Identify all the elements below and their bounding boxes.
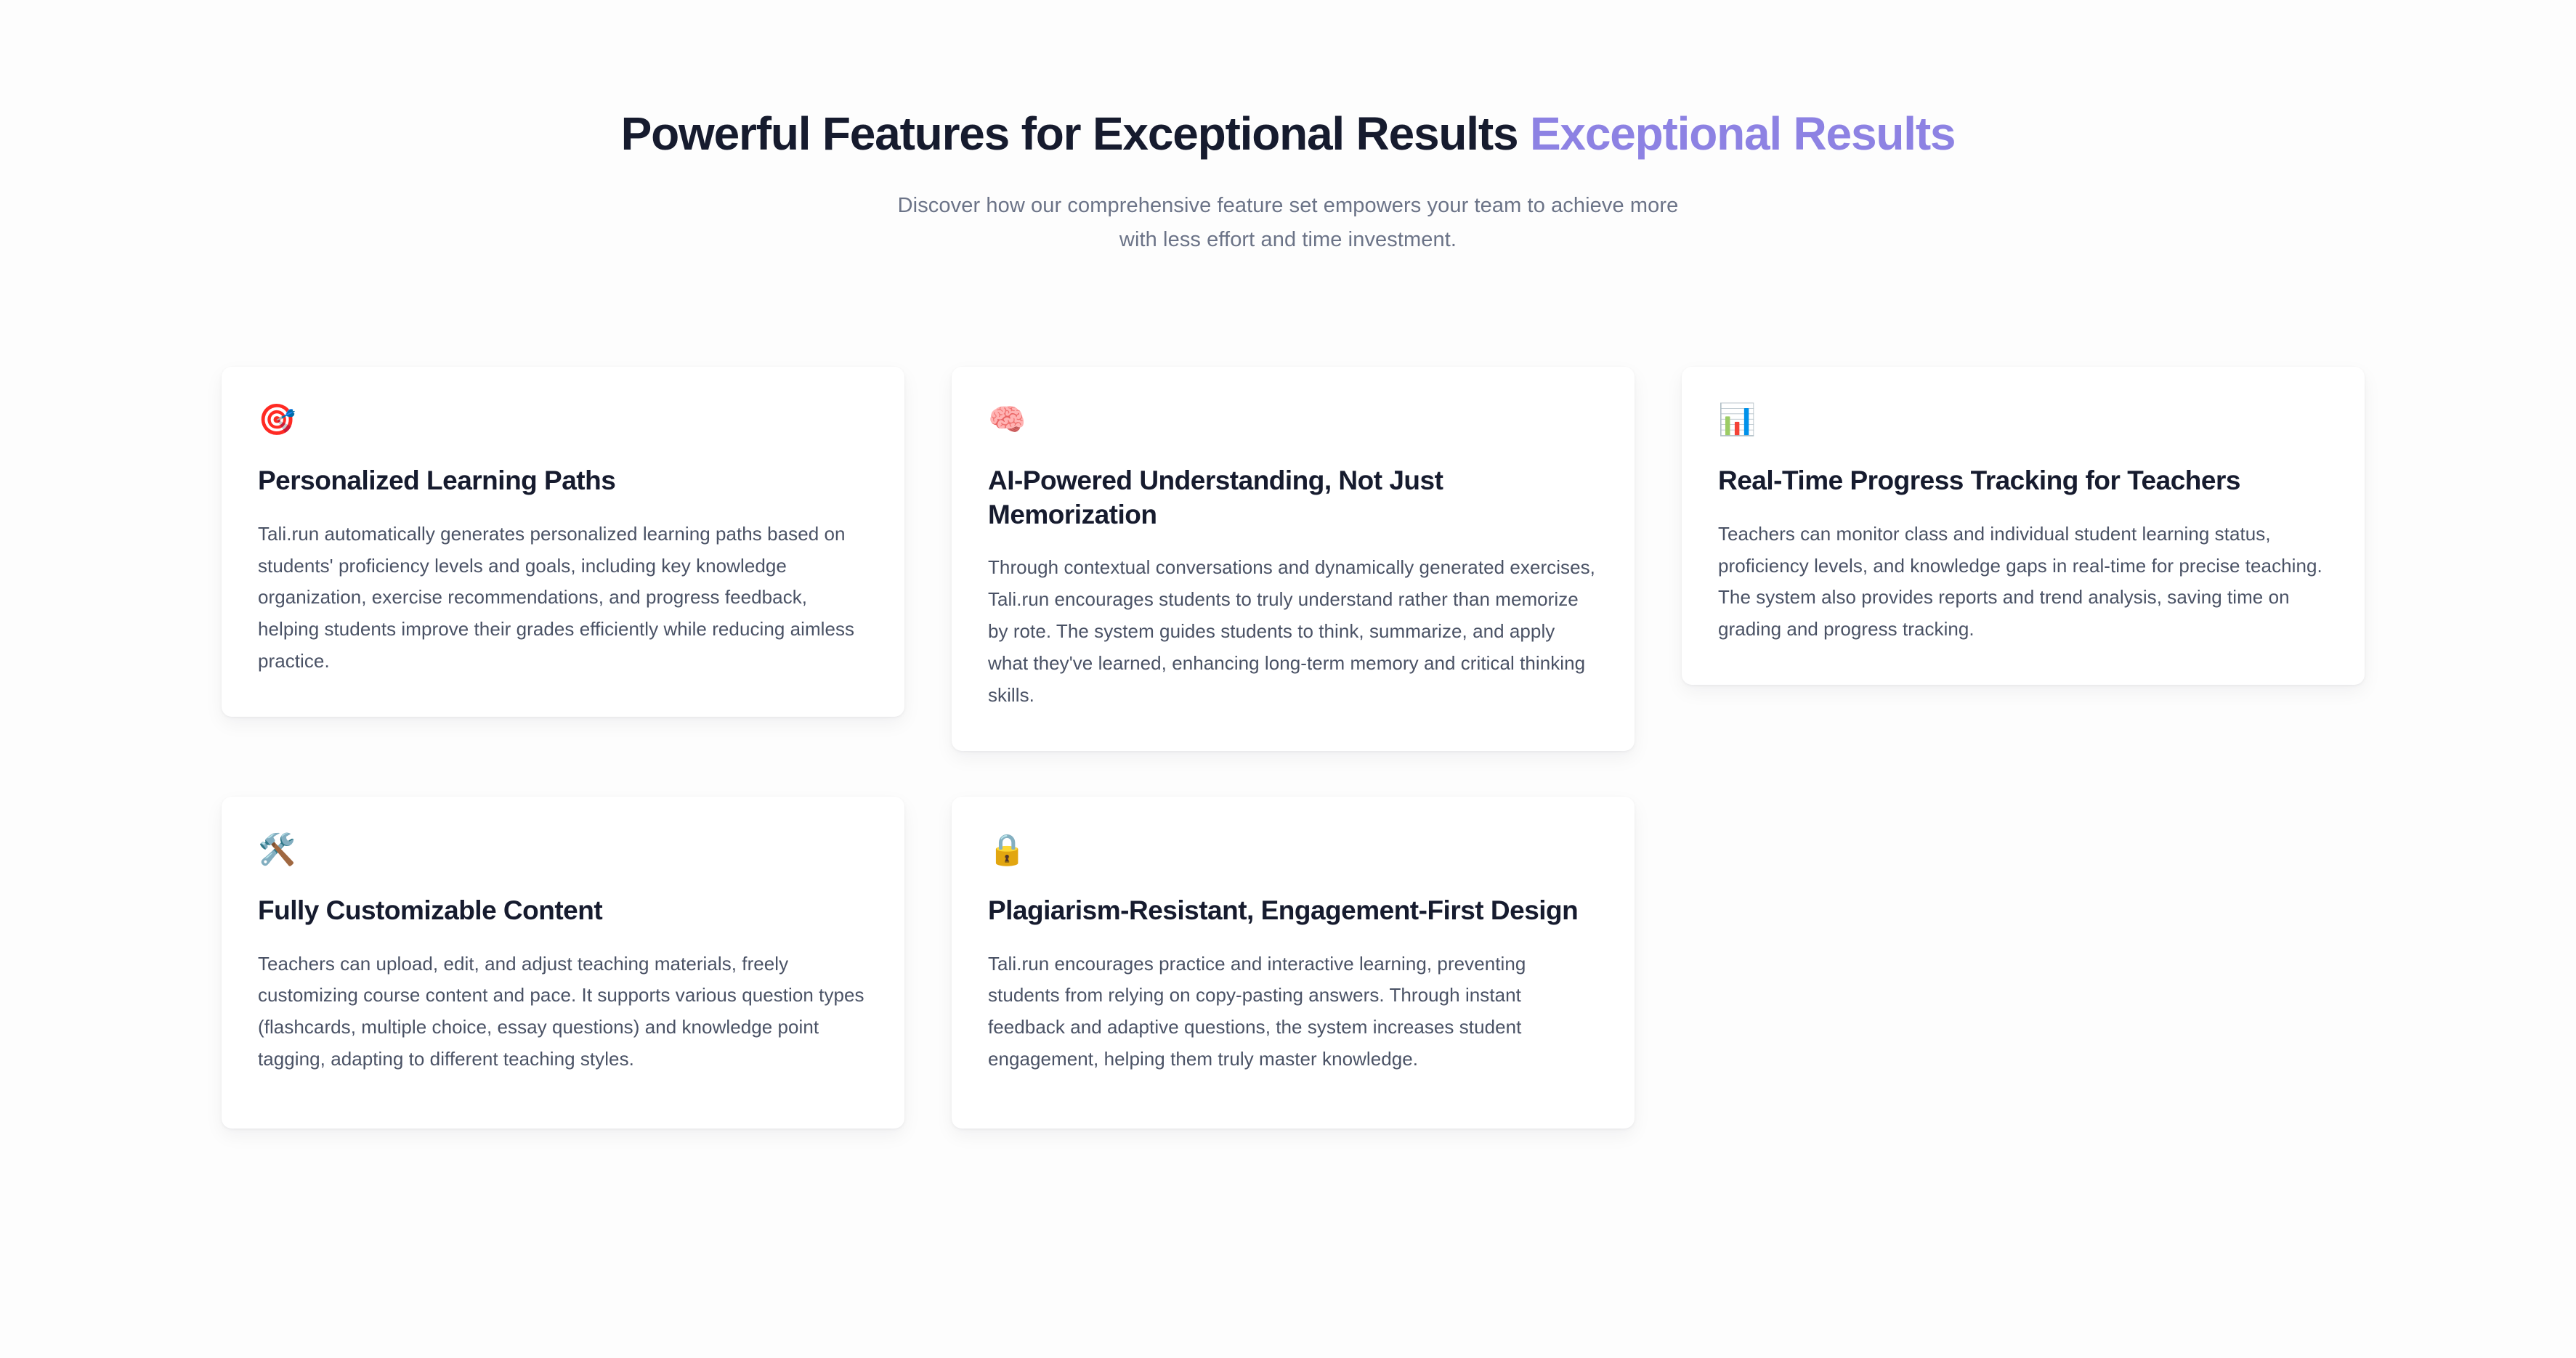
hammer-and-wrench-icon: 🛠️: [258, 834, 868, 868]
page-title: Powerful Features for Exceptional Result…: [0, 107, 2576, 161]
page-subtitle: Discover how our comprehensive feature s…: [0, 189, 2576, 257]
page-subtitle-line-2: with less effort and time investment.: [1119, 228, 1457, 251]
feature-card-body: Through contextual conversations and dyn…: [988, 552, 1598, 712]
feature-cards-grid: 🎯 Personalized Learning Paths Tali.run a…: [222, 367, 2365, 1129]
page-title-main: Powerful Features for Exceptional Result…: [621, 107, 1518, 160]
features-header: Powerful Features for Exceptional Result…: [0, 0, 2576, 257]
bar-chart-icon: 📊: [1718, 404, 2328, 438]
feature-card-title: Personalized Learning Paths: [258, 464, 868, 498]
features-page: Powerful Features for Exceptional Result…: [0, 0, 2576, 1358]
feature-card[interactable]: 🧠 AI-Powered Understanding, Not Just Mem…: [952, 367, 1635, 751]
feature-card-body: Teachers can upload, edit, and adjust te…: [258, 948, 868, 1076]
locked-padlock-icon: 🔒: [988, 834, 1598, 868]
feature-card[interactable]: 🛠️ Fully Customizable Content Teachers c…: [222, 797, 904, 1129]
feature-card[interactable]: 🎯 Personalized Learning Paths Tali.run a…: [222, 367, 904, 717]
feature-card-title: Plagiarism-Resistant, Engagement-First D…: [988, 894, 1598, 928]
feature-card-body: Tali.run automatically generates persona…: [258, 519, 868, 678]
page-subtitle-line-1: Discover how our comprehensive feature s…: [898, 194, 1679, 217]
feature-card[interactable]: 📊 Real-Time Progress Tracking for Teache…: [1682, 367, 2365, 685]
brain-icon: 🧠: [988, 404, 1598, 438]
feature-card-title: Fully Customizable Content: [258, 894, 868, 928]
feature-card-title: AI-Powered Understanding, Not Just Memor…: [988, 464, 1598, 532]
feature-card-body: Tali.run encourages practice and interac…: [988, 948, 1598, 1076]
page-title-accent: Exceptional Results: [1530, 107, 1955, 160]
feature-card[interactable]: 🔒 Plagiarism-Resistant, Engagement-First…: [952, 797, 1635, 1129]
direct-hit-target-icon: 🎯: [258, 404, 868, 438]
feature-card-title: Real-Time Progress Tracking for Teachers: [1718, 464, 2328, 498]
feature-card-body: Teachers can monitor class and individua…: [1718, 519, 2328, 646]
